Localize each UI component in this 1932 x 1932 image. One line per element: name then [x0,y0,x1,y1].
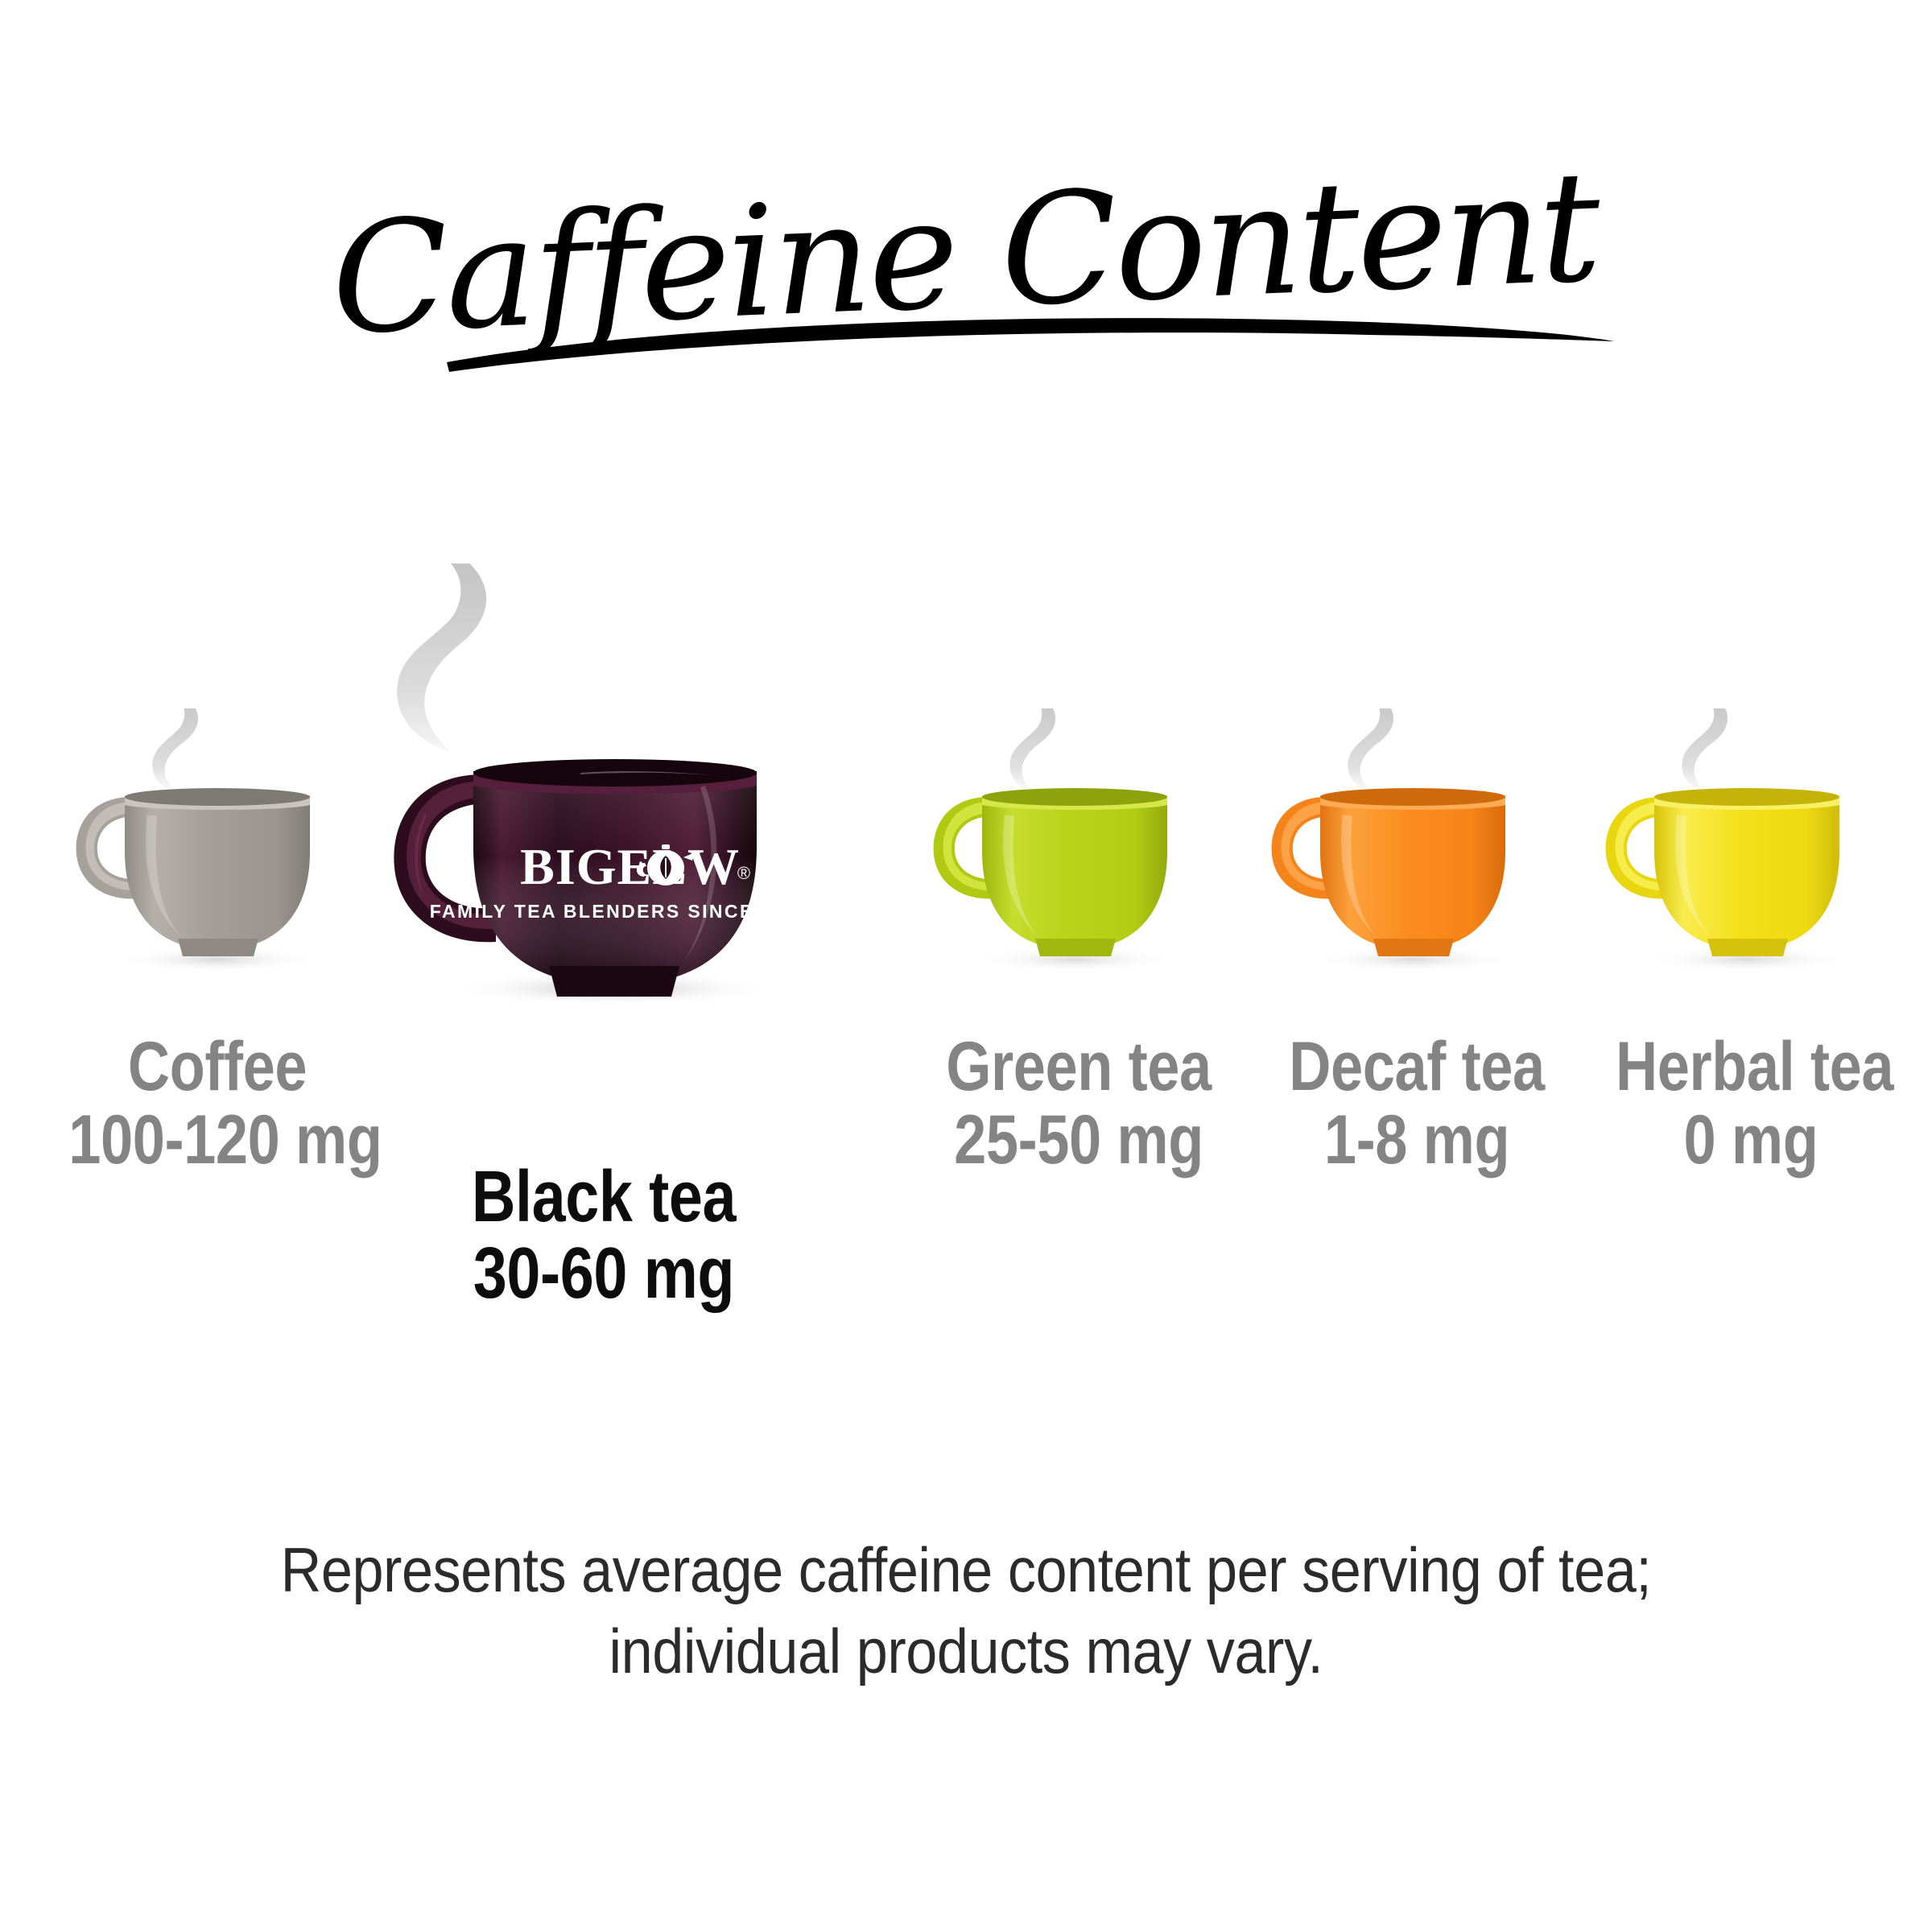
label-coffee-name: Coffee [68,1030,366,1104]
cup-foot [178,939,258,956]
footnote-line-1: Represents average caffeine content per … [97,1529,1835,1611]
steam-icon [397,563,486,752]
infographic-canvas: Caffeine Content [0,0,1932,1932]
steam-icon [1348,708,1393,794]
cup-decaf-tea[interactable] [1240,708,1578,1046]
label-coffee-value: 100-120 mg [68,1104,366,1177]
label-herbal-tea-value: 0 mg [1616,1104,1886,1177]
cup-foot [1035,939,1116,956]
label-decaf-tea-name: Decaf tea [1282,1030,1552,1104]
label-black-tea: Black tea 30-60 mg [427,1159,781,1313]
cup-coffee[interactable] [44,708,382,1046]
registered-mark: ® [737,863,750,883]
label-black-tea-name: Black tea [455,1159,753,1236]
label-black-tea-value: 30-60 mg [455,1236,753,1312]
label-herbal-tea: Herbal tea 0 mg [1590,1030,1912,1177]
steam-icon [152,708,198,794]
cup-rim-inner [1654,788,1839,806]
cup-foot [1707,939,1788,956]
cup-black-tea[interactable]: BIGEL W ® FAMILY TEA BLENDERS SINCE 1945 [346,563,861,1063]
label-decaf-tea: Decaf tea 1-8 mg [1256,1030,1578,1177]
cup-green-tea[interactable] [902,708,1240,1046]
cup-foot [1373,939,1454,956]
bigelow-brand-tail: W [687,838,739,895]
footnote: Represents average caffeine content per … [0,1529,1932,1693]
footnote-line-2: individual products may vary. [97,1611,1835,1692]
label-herbal-tea-name: Herbal tea [1616,1030,1886,1104]
cup-foot [549,966,679,997]
cup-rim-inner [125,788,310,806]
steam-icon [1009,708,1055,794]
label-green-tea: Green tea 25-50 mg [918,1030,1240,1177]
cup-herbal-tea[interactable] [1574,708,1912,1046]
bigelow-tagline: FAMILY TEA BLENDERS SINCE 1945 [430,901,810,922]
label-coffee: Coffee 100-120 mg [40,1030,394,1177]
label-green-tea-value: 25-50 mg [943,1104,1214,1177]
steam-icon [1682,708,1728,794]
label-green-tea-name: Green tea [943,1030,1214,1104]
cup-rim-inner [982,788,1167,806]
label-decaf-tea-value: 1-8 mg [1282,1104,1552,1177]
cup-rim-inner [1320,788,1505,806]
